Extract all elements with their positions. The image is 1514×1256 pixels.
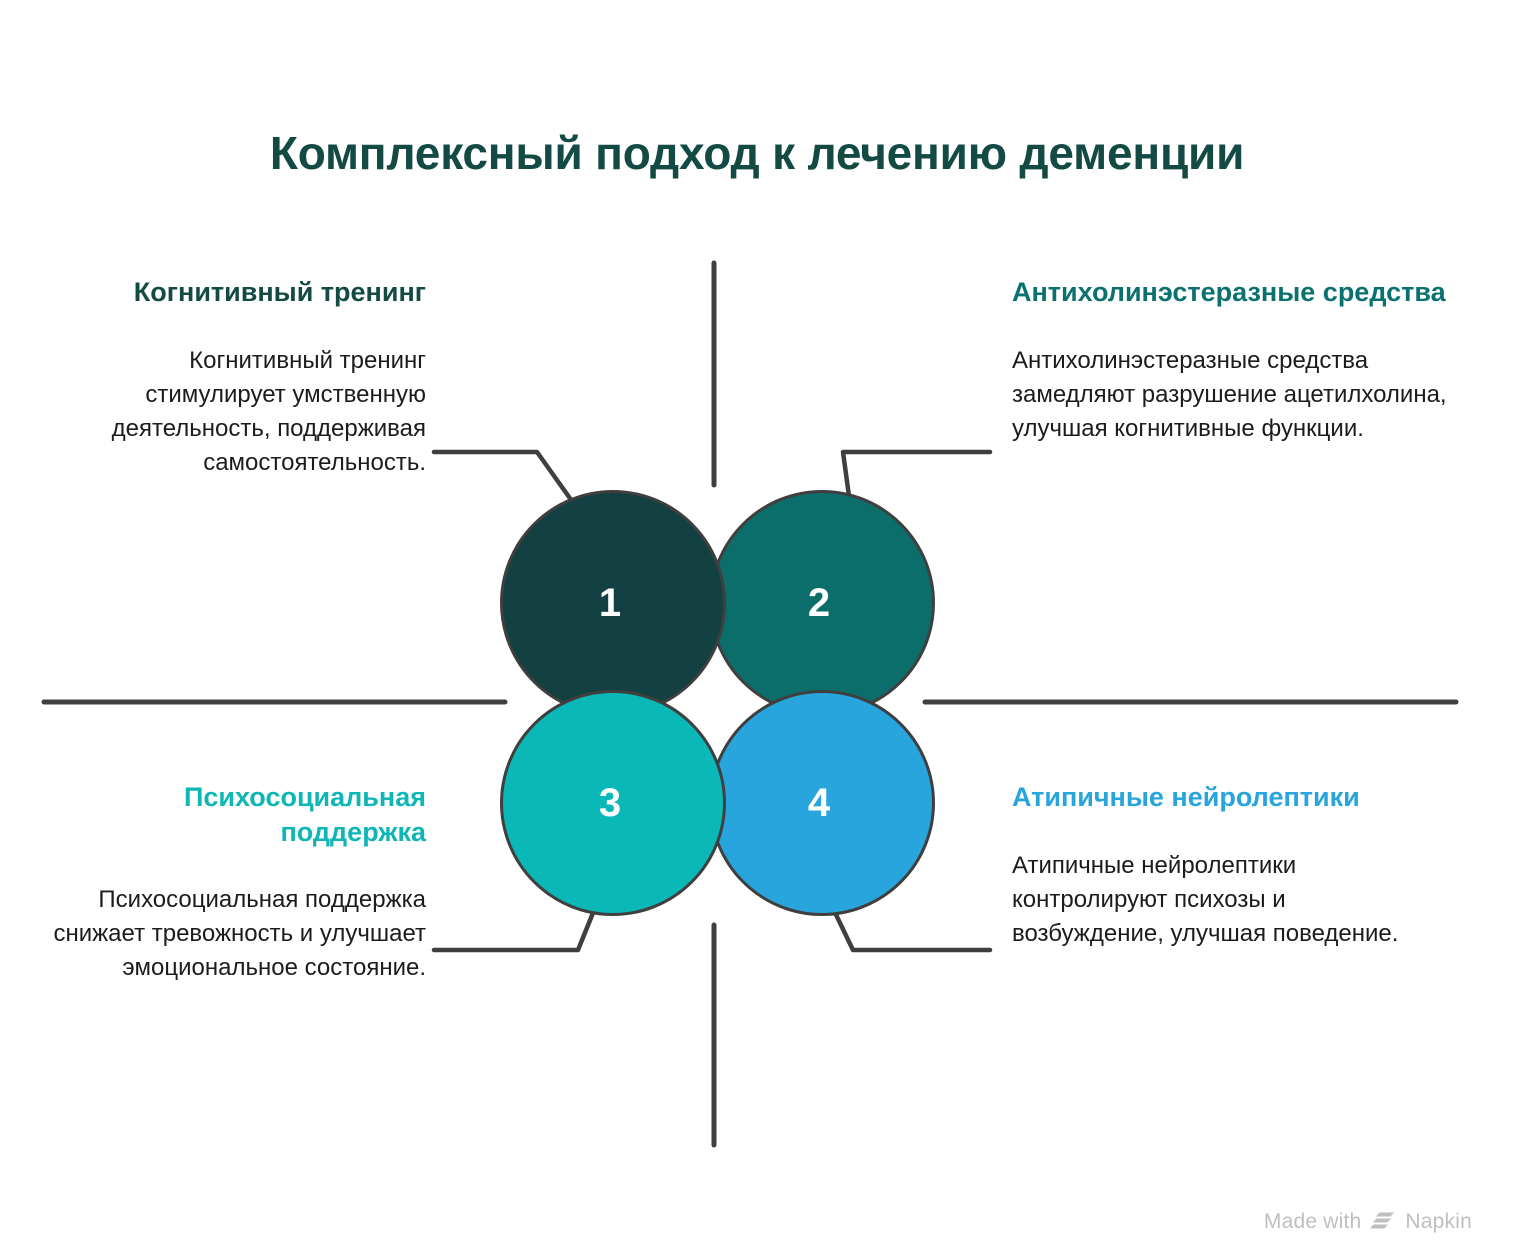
node-number-2: 2 <box>808 583 830 623</box>
napkin-stripes-icon <box>1370 1211 1396 1233</box>
quadrant-3-body: Психосоциальная поддержка снижает тревож… <box>44 883 426 985</box>
quadrant-anticholinesterase-drugs: Антихолинэстеразные средства Антихолинэс… <box>1012 275 1456 446</box>
watermark-made-with-label: Made with <box>1264 1210 1362 1234</box>
quadrant-4-heading: Атипичные нейролептики <box>1012 780 1432 815</box>
page-title: Комплексный подход к лечению деменции <box>0 127 1514 180</box>
node-circle-3[interactable]: 3 <box>500 690 726 916</box>
watermark-brand-label: Napkin <box>1405 1210 1472 1234</box>
quadrant-1-body: Когнитивный тренинг стимулирует умственн… <box>44 344 426 480</box>
circle-cluster: 2 1 4 3 <box>488 478 938 920</box>
quadrant-1-heading: Когнитивный тренинг <box>44 275 426 310</box>
quadrant-2-body: Антихолинэстеразные средства замедляют р… <box>1012 344 1456 446</box>
quadrant-cognitive-training: Когнитивный тренинг Когнитивный тренинг … <box>44 275 426 480</box>
quadrant-psychosocial-support: Психосоциальная поддержка Психосоциальна… <box>44 780 426 985</box>
node-circle-4[interactable]: 4 <box>709 690 935 916</box>
node-circle-1[interactable]: 1 <box>500 490 726 716</box>
quadrant-2-heading: Антихолинэстеразные средства <box>1012 275 1456 310</box>
node-number-4: 4 <box>808 783 830 823</box>
quadrant-4-body: Атипичные нейролептики контролируют псих… <box>1012 849 1432 951</box>
node-number-3: 3 <box>599 783 621 823</box>
quadrant-atypical-antipsychotics: Атипичные нейролептики Атипичные нейроле… <box>1012 780 1432 951</box>
napkin-watermark: Made with Napkin <box>1264 1210 1472 1234</box>
quadrant-3-heading: Психосоциальная поддержка <box>44 780 426 849</box>
node-number-1: 1 <box>599 583 621 623</box>
node-circle-2[interactable]: 2 <box>709 490 935 716</box>
